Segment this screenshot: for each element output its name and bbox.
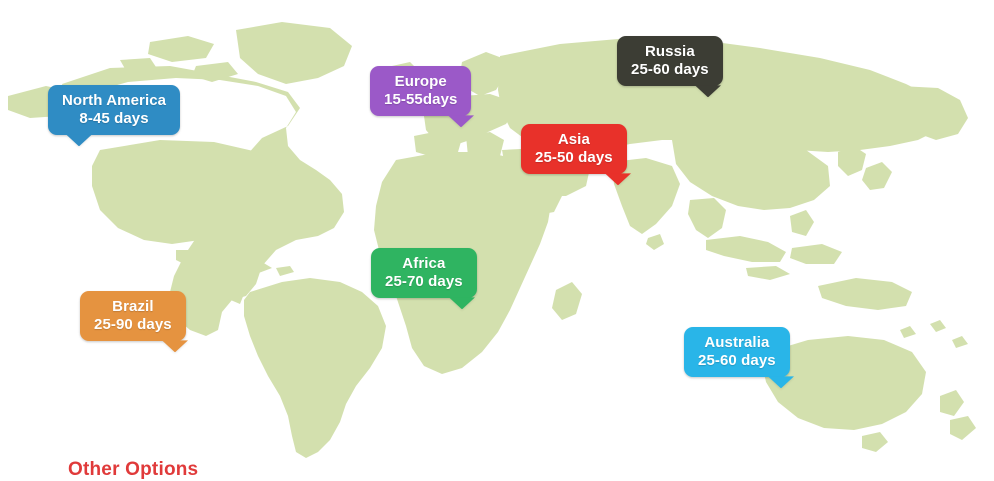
region-name: Asia — [535, 131, 613, 149]
region-name: North America — [62, 92, 166, 110]
delivery-days: 25-70 days — [385, 273, 463, 291]
region-badge-brazil[interactable]: Brazil 25-90 days — [80, 291, 186, 341]
region-name: Russia — [631, 43, 709, 61]
delivery-days: 25-60 days — [698, 352, 776, 370]
region-badge-north-america[interactable]: North America 8-45 days — [48, 85, 180, 135]
region-name: Australia — [698, 334, 776, 352]
region-name: Africa — [385, 255, 463, 273]
delivery-days: 25-90 days — [94, 316, 172, 334]
region-name: Brazil — [94, 298, 172, 316]
region-badge-asia[interactable]: Asia 25-50 days — [521, 124, 627, 174]
region-badge-africa[interactable]: Africa 25-70 days — [371, 248, 477, 298]
delivery-days: 25-50 days — [535, 149, 613, 167]
delivery-days: 25-60 days — [631, 61, 709, 79]
region-name: Europe — [384, 73, 457, 91]
world-map-graphic — [0, 0, 994, 471]
other-options-heading: Other Options — [68, 459, 198, 481]
shipping-times-world-map: North America 8-45 days Europe 15-55days… — [0, 0, 994, 471]
region-badge-australia[interactable]: Australia 25-60 days — [684, 327, 790, 377]
delivery-days: 8-45 days — [62, 110, 166, 128]
region-badge-russia[interactable]: Russia 25-60 days — [617, 36, 723, 86]
region-badge-europe[interactable]: Europe 15-55days — [370, 66, 471, 116]
delivery-days: 15-55days — [384, 91, 457, 109]
